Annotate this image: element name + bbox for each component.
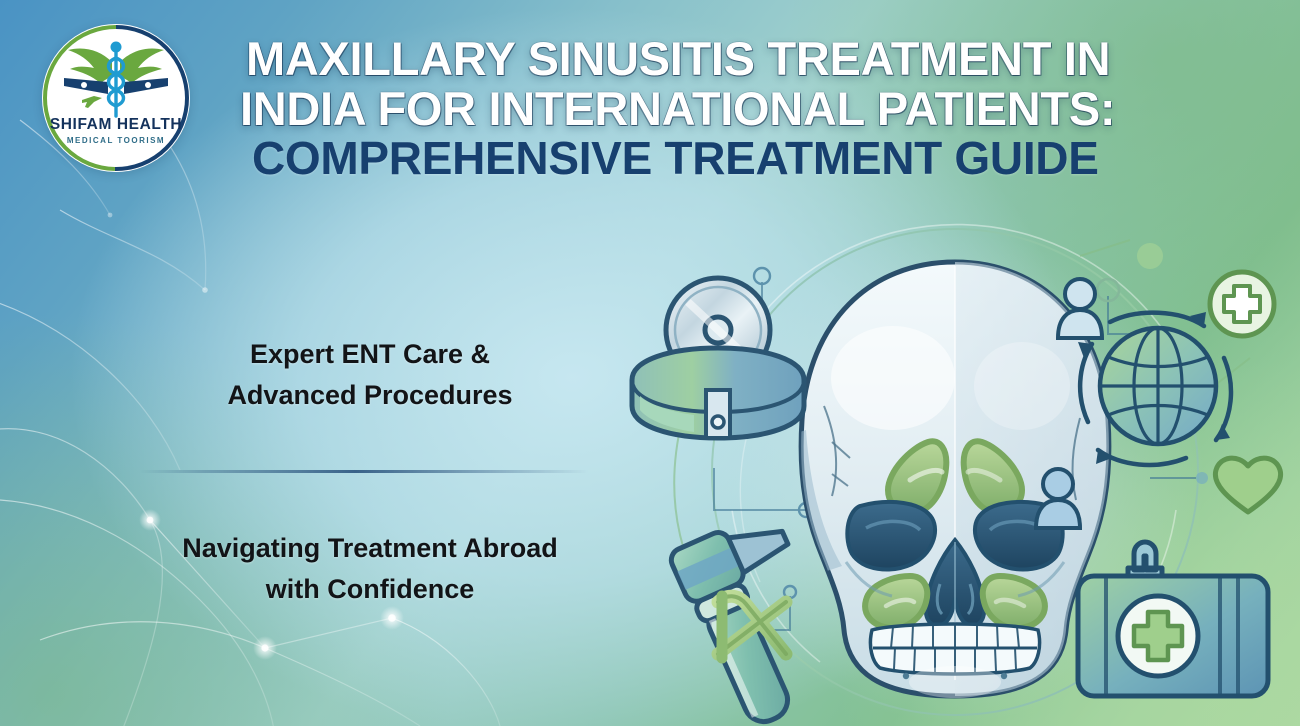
subhead-block-b: Navigating Treatment Abroad with Confide… xyxy=(140,528,600,610)
title-line-3: COMPREHENSIVE TREATMENT GUIDE xyxy=(252,134,1162,183)
medical-illustration xyxy=(610,210,1300,720)
subhead-b-line-2: with Confidence xyxy=(140,569,600,610)
caduceus-icon xyxy=(58,38,174,120)
logo-brand-name: SHIFAM HEALTH xyxy=(42,116,190,134)
airplane-icon xyxy=(82,96,102,108)
subhead-b-line-1: Navigating Treatment Abroad xyxy=(140,528,600,569)
page-title: MAXILLARY SINUSITIS TREATMENT IN INDIA F… xyxy=(232,34,1162,182)
subhead-a-line-1: Expert ENT Care & xyxy=(150,334,590,375)
brand-logo[interactable]: SHIFAM HEALTH MEDICAL TOORISM xyxy=(42,24,190,172)
logo-tagline: MEDICAL TOORISM xyxy=(42,136,190,145)
subhead-block-a: Expert ENT Care & Advanced Procedures xyxy=(150,334,590,416)
banner-root: SHIFAM HEALTH MEDICAL TOORISM MAXILLARY … xyxy=(0,0,1300,726)
medical-cross-badge-icon xyxy=(1210,272,1274,336)
subhead-a-line-2: Advanced Procedures xyxy=(150,375,590,416)
title-line-1: MAXILLARY SINUSITIS TREATMENT IN xyxy=(246,34,1162,84)
head-mirror-icon xyxy=(632,278,804,438)
section-divider xyxy=(140,470,588,473)
title-line-2: INDIA FOR INTERNATIONAL PATIENTS: xyxy=(240,84,1162,134)
heart-icon xyxy=(1215,458,1280,512)
